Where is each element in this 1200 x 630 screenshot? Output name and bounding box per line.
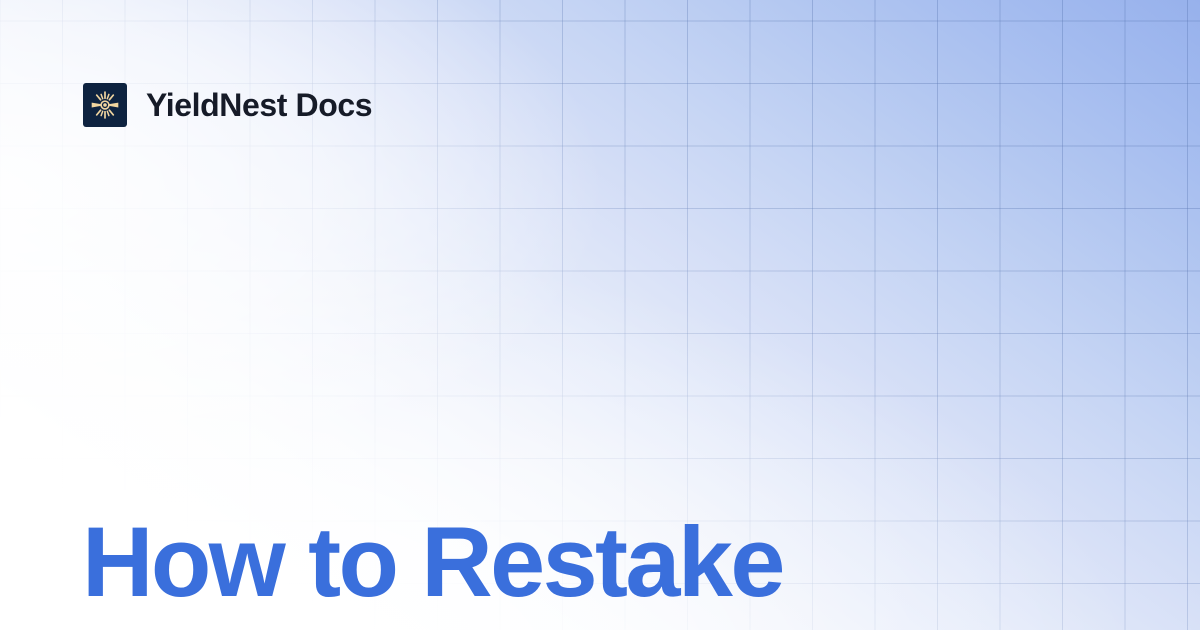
sun-starburst-icon xyxy=(90,90,120,120)
brand-header[interactable]: YieldNest Docs xyxy=(83,83,372,127)
yieldnest-logo[interactable] xyxy=(83,83,127,127)
og-card: YieldNest Docs How to Restake xyxy=(0,0,1200,630)
brand-title: YieldNest Docs xyxy=(146,89,372,121)
page-title: How to Restake xyxy=(82,509,783,616)
